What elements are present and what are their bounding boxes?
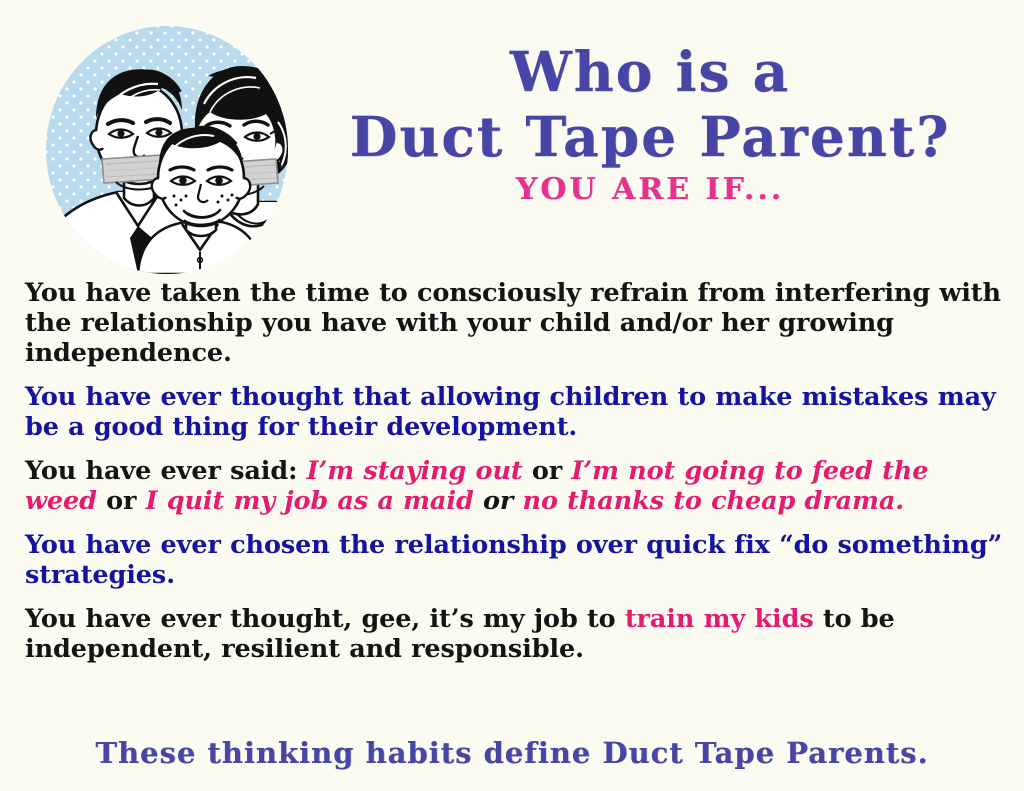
text-run-7: or <box>474 486 523 516</box>
page-title-line-2: Duct Tape Parent? <box>300 109 1000 165</box>
text-run-1: You have ever said: <box>25 456 307 486</box>
text-run-2: I’m staying out <box>307 456 523 486</box>
title-block: Who is a Duct Tape Parent? YOU ARE IF... <box>300 44 1000 207</box>
page-subtitle: YOU ARE IF... <box>300 172 1000 207</box>
text-run-1: You have ever chosen the relationship ov… <box>25 530 1002 590</box>
text-run-8: no thanks to cheap drama. <box>523 486 905 516</box>
text-run-1: You have ever thought, gee, it’s my job … <box>25 604 625 634</box>
text-run-6: I quit my job as a maid <box>146 486 474 516</box>
paragraph-3: You have ever said: I’m staying out or I… <box>25 456 1007 516</box>
family-illustration <box>46 26 288 274</box>
page-title-line-1: Who is a <box>300 44 1000 100</box>
text-run-2: train my kids <box>625 604 814 634</box>
paragraph-5: You have ever thought, gee, it’s my job … <box>25 604 1007 664</box>
paragraph-2: You have ever thought that allowing chil… <box>25 382 1007 442</box>
text-run-1: You have ever thought that allowing chil… <box>25 382 996 442</box>
body-paragraph-list: You have taken the time to consciously r… <box>25 278 1007 664</box>
poster-canvas: Who is a Duct Tape Parent? YOU ARE IF...… <box>0 0 1024 791</box>
footer-tagline: These thinking habits define Duct Tape P… <box>95 736 928 770</box>
paragraph-1: You have taken the time to consciously r… <box>25 278 1007 368</box>
footer-block: These thinking habits define Duct Tape P… <box>0 736 1024 770</box>
text-run-3: or <box>523 456 572 486</box>
text-run-1: You have taken the time to consciously r… <box>25 278 1001 368</box>
paragraph-4: You have ever chosen the relationship ov… <box>25 530 1007 590</box>
text-run-5: or <box>97 486 146 516</box>
retro-family-artwork <box>46 26 288 274</box>
